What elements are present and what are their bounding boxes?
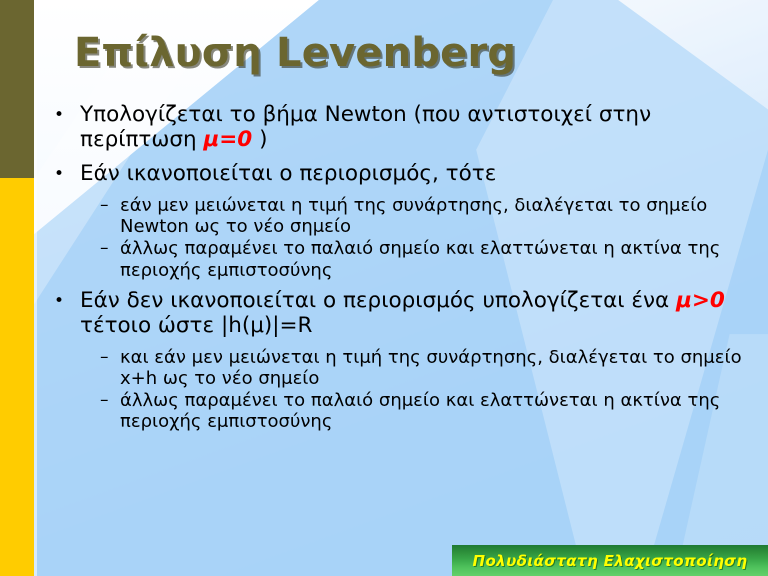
sub-bullet-item-3-2: – άλλως παραμένει το παλαιό σημείο και ε…: [100, 390, 746, 432]
sub-bullet-item-3-1: – και εάν μεν μειώνεται η τιμή της συνάρ…: [100, 347, 746, 389]
footer-text: Πολυδιάστατη Ελαχιστοποίηση: [473, 552, 748, 570]
sub-bullet-text-2-1: εάν μεν μειώνεται η τιμή της συνάρτησης,…: [120, 195, 746, 237]
bullet-text-3-highlight: μ>0: [676, 288, 725, 313]
dash-icon: –: [100, 390, 120, 410]
bullet-text-1-highlight: μ=0: [203, 127, 252, 152]
dash-icon: –: [100, 238, 120, 258]
left-stripe-yellow: [0, 178, 34, 576]
bullet-text-2: Εάν ικανοποιείται ο περιορισμός, τότε: [80, 162, 746, 187]
sub-bullet-text-2-2: άλλως παραμένει το παλαιό σημείο και ελα…: [120, 238, 746, 280]
dash-icon: –: [100, 195, 120, 215]
bullet-item-2: • Εάν ικανοποιείται ο περιορισμός, τότε: [46, 162, 746, 187]
bullet-text-3-before: Εάν δεν ικανοποιείται ο περιορισμός υπολ…: [80, 288, 676, 313]
bullet-dot-icon: •: [46, 289, 80, 313]
bullet-text-1: Υπολογίζεται το βήμα Newton (που αντιστο…: [80, 103, 746, 153]
slide-title: Επίλυση Levenberg: [74, 30, 516, 76]
sub-bullet-text-3-1: και εάν μεν μειώνεται η τιμή της συνάρτη…: [120, 347, 746, 389]
presentation-slide: Επίλυση Levenberg • Υπολογίζεται το βήμα…: [0, 0, 768, 576]
bullet-text-1-before: Υπολογίζεται το βήμα Newton (που αντιστο…: [80, 102, 651, 152]
bullet-dot-icon: •: [46, 103, 80, 127]
bullet-item-3: • Εάν δεν ικανοποιείται ο περιορισμός υπ…: [46, 289, 746, 339]
sub-bullet-text-3-2: άλλως παραμένει το παλαιό σημείο και ελα…: [120, 390, 746, 432]
footer-banner: Πολυδιάστατη Ελαχιστοποίηση: [452, 545, 768, 576]
sub-bullet-item-2-2: – άλλως παραμένει το παλαιό σημείο και ε…: [100, 238, 746, 280]
bullet-text-1-after: ): [252, 127, 267, 152]
left-stripe-olive: [0, 0, 34, 178]
dash-icon: –: [100, 347, 120, 367]
slide-body: • Υπολογίζεται το βήμα Newton (που αντισ…: [46, 103, 746, 434]
bullet-item-1: • Υπολογίζεται το βήμα Newton (που αντισ…: [46, 103, 746, 153]
bullet-text-3: Εάν δεν ικανοποιείται ο περιορισμός υπολ…: [80, 289, 746, 339]
left-stripe-divider: [34, 0, 37, 576]
sub-bullet-item-2-1: – εάν μεν μειώνεται η τιμή της συνάρτηση…: [100, 195, 746, 237]
bullet-dot-icon: •: [46, 162, 80, 186]
bullet-text-3-after: τέτοιο ώστε |h(μ)|=R: [80, 313, 312, 338]
